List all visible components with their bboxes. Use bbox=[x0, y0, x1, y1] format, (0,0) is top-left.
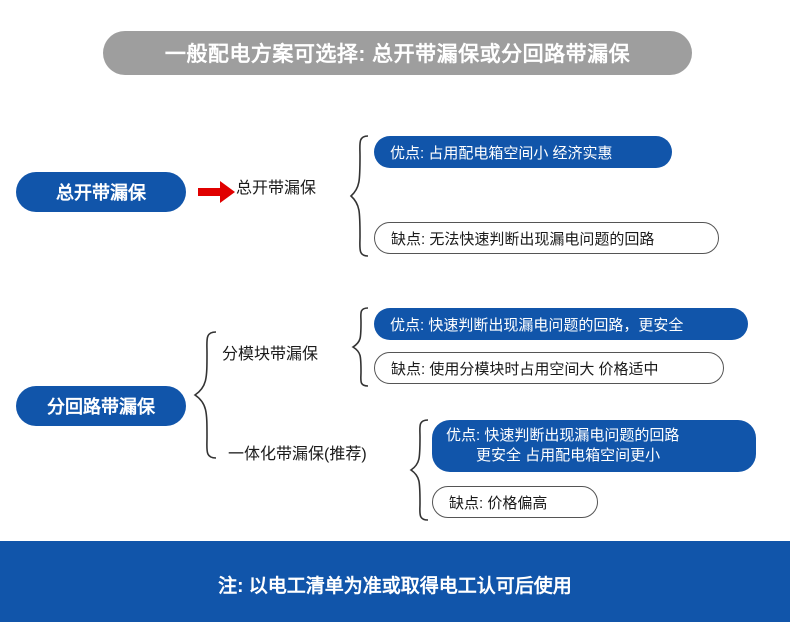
box-module-rcd-pro: 优点: 快速判断出现漏电问题的回路，更安全 bbox=[374, 308, 748, 340]
box-main-breaker-pro: 优点: 占用配电箱空间小 经济实惠 bbox=[374, 136, 672, 168]
diagram-canvas: 一般配电方案可选择: 总开带漏保或分回路带漏保 总开带漏保 总开带漏保 优点: … bbox=[0, 0, 790, 622]
red-arrow-icon bbox=[198, 180, 236, 204]
footer-suffix: 取得电工认可后使用 bbox=[401, 571, 572, 598]
brace-integrated-rcd bbox=[408, 418, 430, 522]
node-integrated-rcd: 一体化带漏保(推荐) bbox=[228, 440, 367, 464]
brace-branch-circuits bbox=[192, 330, 218, 460]
box-integrated-rcd-con: 缺点: 价格偏高 bbox=[432, 486, 598, 518]
label-main-breaker: 总开带漏保 bbox=[16, 172, 186, 212]
brace-main-breaker bbox=[348, 134, 370, 258]
node-module-rcd: 分模块带漏保 bbox=[222, 340, 318, 364]
box-module-rcd-con: 缺点: 使用分模块时占用空间大 价格适中 bbox=[374, 352, 724, 384]
footer-prefix: 注: 以电工清单为准 bbox=[218, 571, 382, 598]
box-main-breaker-con: 缺点: 无法快速判断出现漏电问题的回路 bbox=[374, 222, 719, 254]
brace-module-rcd bbox=[350, 306, 370, 388]
label-branch-circuits: 分回路带漏保 bbox=[16, 386, 186, 426]
footer-note: 注: 以电工清单为准或取得电工认可后使用 bbox=[0, 546, 790, 622]
box-integrated-rcd-pro-line1: 优点: 快速判断出现漏电问题的回路 bbox=[446, 426, 679, 446]
title-banner: 一般配电方案可选择: 总开带漏保或分回路带漏保 bbox=[103, 31, 692, 75]
node-main-breaker: 总开带漏保 bbox=[236, 174, 316, 198]
box-integrated-rcd-pro: 优点: 快速判断出现漏电问题的回路 更安全 占用配电箱空间更小 bbox=[432, 420, 756, 472]
box-integrated-rcd-pro-line2: 更安全 占用配电箱空间更小 bbox=[446, 446, 679, 466]
footer-emphasis: 或 bbox=[382, 571, 401, 598]
